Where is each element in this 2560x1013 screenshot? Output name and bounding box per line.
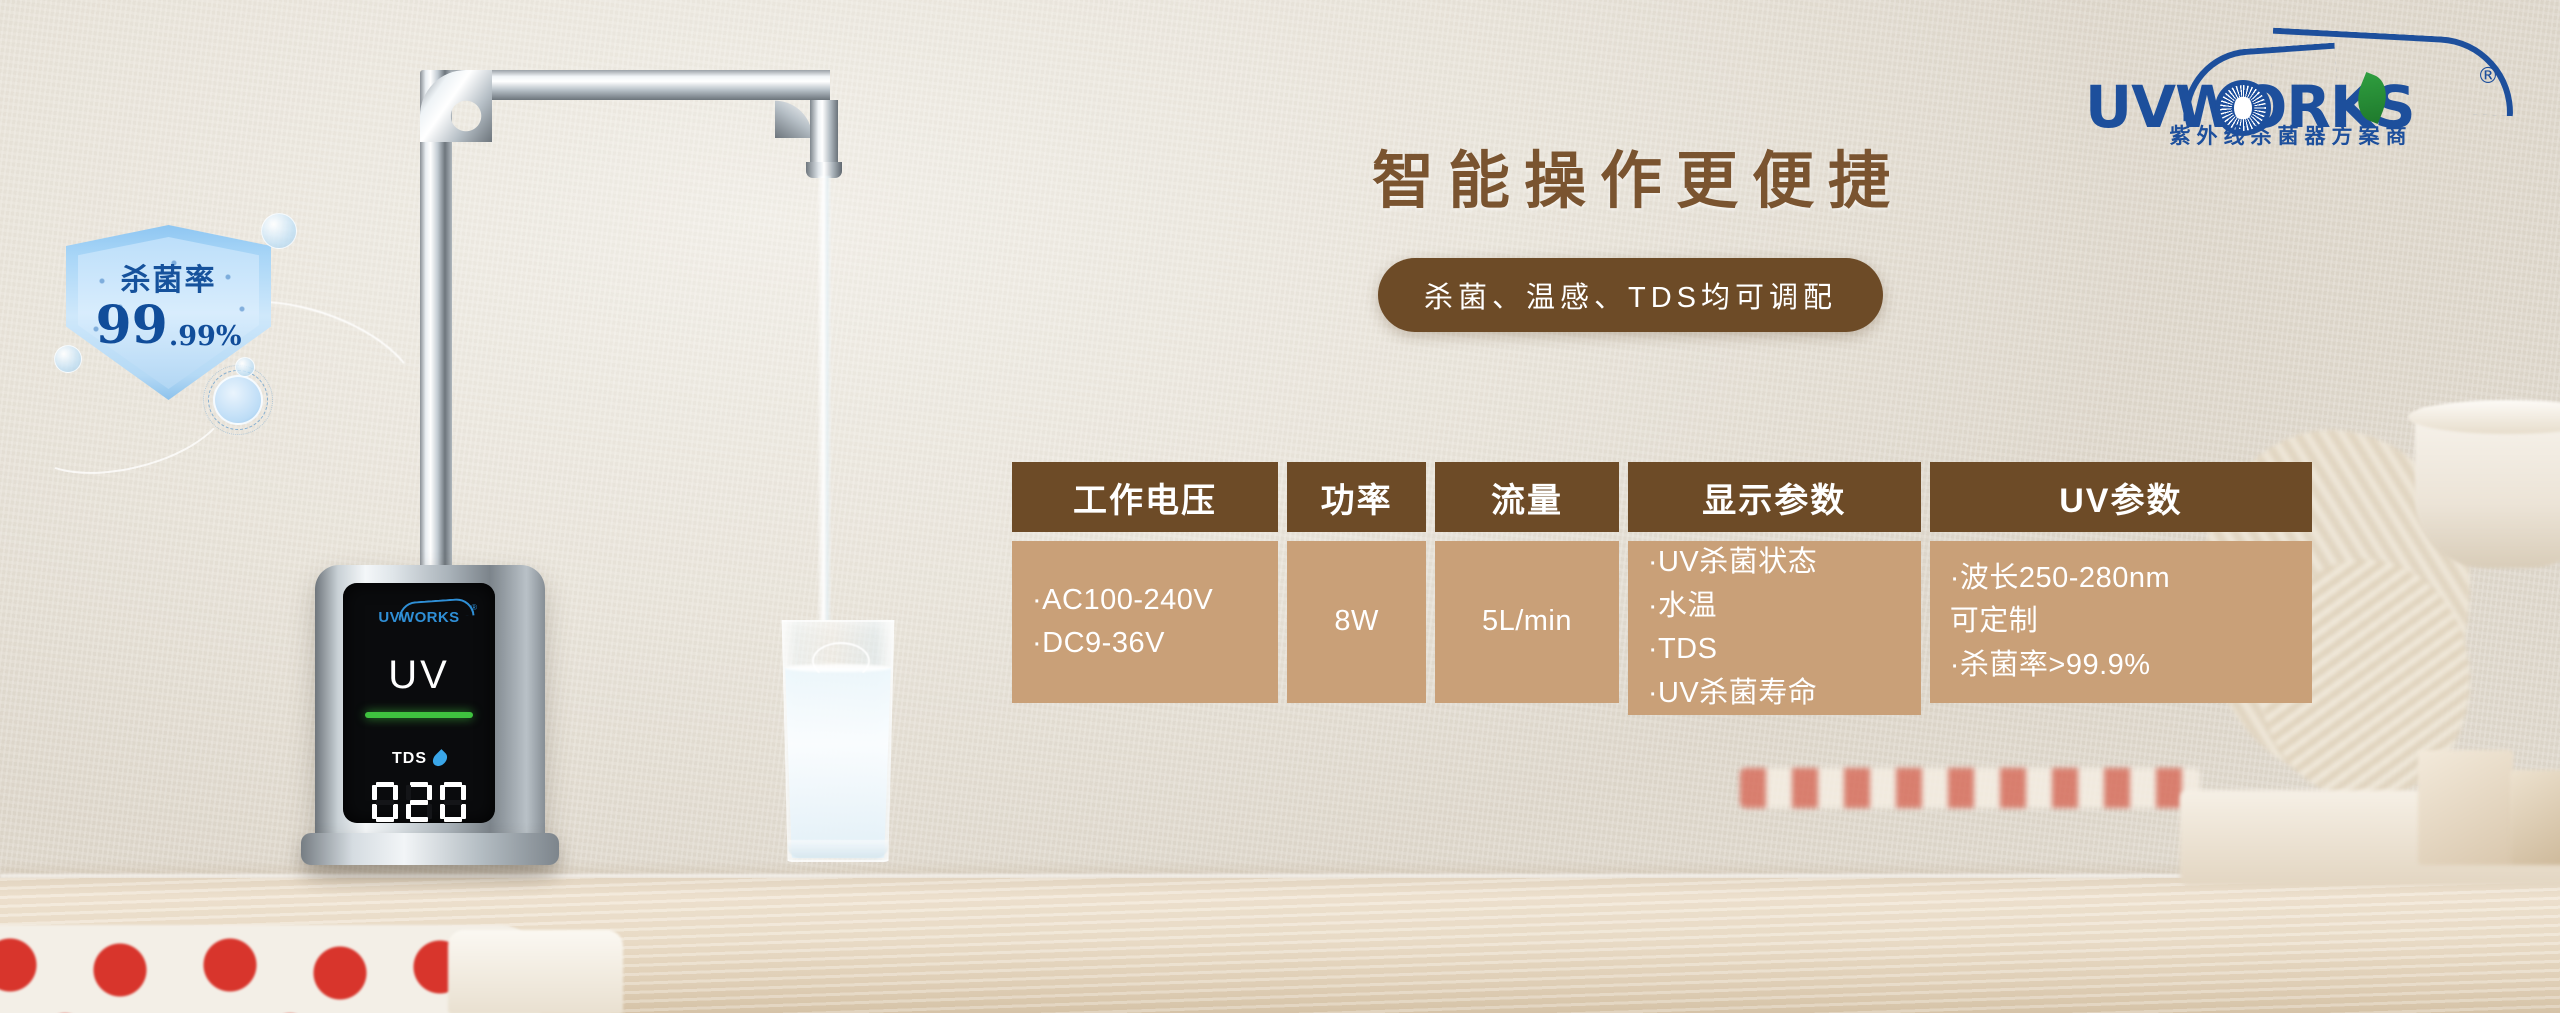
display-tds-row: TDS — [392, 750, 446, 768]
display-tds-value — [372, 782, 466, 822]
spec-line: ·杀菌率>99.9% — [1950, 644, 2151, 688]
striped-cloth-prop — [1740, 768, 2200, 808]
spec-header: 显示参数 — [1628, 462, 1921, 532]
spec-cell: 5L/min — [1435, 541, 1619, 703]
brand-logo: UVWORKS ® 紫外线杀菌器方案商 — [2085, 28, 2505, 148]
badge-label: 杀菌率 — [121, 255, 217, 299]
seven-segment-digit — [406, 782, 432, 822]
spec-column-voltage: 工作电压 ·AC100-240V ·DC9-36V — [1012, 462, 1278, 703]
product-banner: UVWORKS ® UV TDS — [0, 0, 2560, 1013]
spec-column-display: 显示参数 ·UV杀菌状态 ·水温 ·TDS ·UV杀菌寿命 — [1628, 462, 1921, 715]
registered-mark-icon: ® — [2477, 64, 2499, 89]
spec-header: 流量 — [1435, 462, 1619, 532]
water-splash — [812, 642, 870, 680]
device-base — [301, 833, 559, 865]
spec-table: 工作电压 ·AC100-240V ·DC9-36V 功率 8W 流量 5L/mi… — [1012, 462, 2312, 715]
spec-line: ·AC100-240V — [1032, 579, 1213, 623]
spec-line: ·DC9-36V — [1032, 622, 1165, 666]
faucet-horizontal-arm — [440, 70, 830, 100]
spec-column-power: 功率 8W — [1287, 462, 1426, 703]
brand-tagline: 紫外线杀菌器方案商 — [2091, 120, 2491, 150]
water-stream — [818, 176, 831, 621]
seven-segment-digit — [372, 782, 398, 822]
box-prop-one — [2418, 750, 2513, 865]
badge-text-group: 杀菌率 99 .99% — [66, 225, 271, 400]
spec-column-flow: 流量 5L/min — [1435, 462, 1619, 703]
logo-arc-icon — [397, 597, 474, 620]
spec-cell: ·UV杀菌状态 ·水温 ·TDS ·UV杀菌寿命 — [1628, 541, 1921, 715]
glass-water-fill — [783, 668, 893, 858]
spec-line: ·UV杀菌寿命 — [1648, 672, 1817, 716]
spec-line: 5L/min — [1482, 600, 1572, 644]
sterilization-rate-badge: 杀菌率 99 .99% — [48, 225, 288, 410]
faucet-vertical-column — [420, 70, 452, 590]
spec-cell: ·波长250-280nm 可定制 ·杀菌率>99.9% — [1930, 541, 2312, 703]
badge-value-decimal: .99% — [169, 323, 242, 350]
uv-sterilizer-device: UVWORKS ® UV TDS — [315, 565, 545, 860]
seven-segment-digit — [440, 782, 466, 822]
display-mode-label: UV — [388, 653, 450, 698]
badge-value-integer: 99 — [95, 301, 167, 350]
spec-line: 8W — [1334, 600, 1379, 644]
spec-line: 可定制 — [1950, 600, 2039, 644]
glass-base — [788, 840, 888, 858]
registered-mark-icon: ® — [471, 603, 477, 612]
plate-prop — [448, 930, 623, 1013]
display-status-bar — [365, 712, 473, 718]
water-droplet-icon — [430, 749, 450, 769]
spec-column-uv: UV参数 ·波长250-280nm 可定制 ·杀菌率>99.9% — [1930, 462, 2312, 703]
spec-cell: ·AC100-240V ·DC9-36V — [1012, 541, 1278, 703]
water-glass — [778, 620, 898, 862]
spec-line: ·波长250-280nm — [1950, 557, 2170, 601]
device-display-screen: UVWORKS ® UV TDS — [343, 583, 495, 823]
faucet-spout — [810, 100, 838, 170]
display-tds-label: TDS — [392, 750, 427, 768]
badge-value: 99 .99% — [95, 301, 241, 350]
spec-header: UV参数 — [1930, 462, 2312, 532]
spec-cell: 8W — [1287, 541, 1426, 703]
display-brand-logo: UVWORKS ® — [364, 605, 474, 629]
spec-line: ·UV杀菌状态 — [1648, 541, 1817, 585]
spec-header: 工作电压 — [1012, 462, 1278, 532]
page-title: 智能操作更便捷 — [1372, 130, 2012, 220]
spec-line: ·TDS — [1648, 628, 1718, 672]
subtitle-pill: 杀菌、温感、TDS均可调配 — [1378, 258, 1883, 332]
box-prop-two — [2510, 770, 2560, 865]
spec-line: ·水温 — [1648, 585, 1717, 629]
spec-header: 功率 — [1287, 462, 1426, 532]
